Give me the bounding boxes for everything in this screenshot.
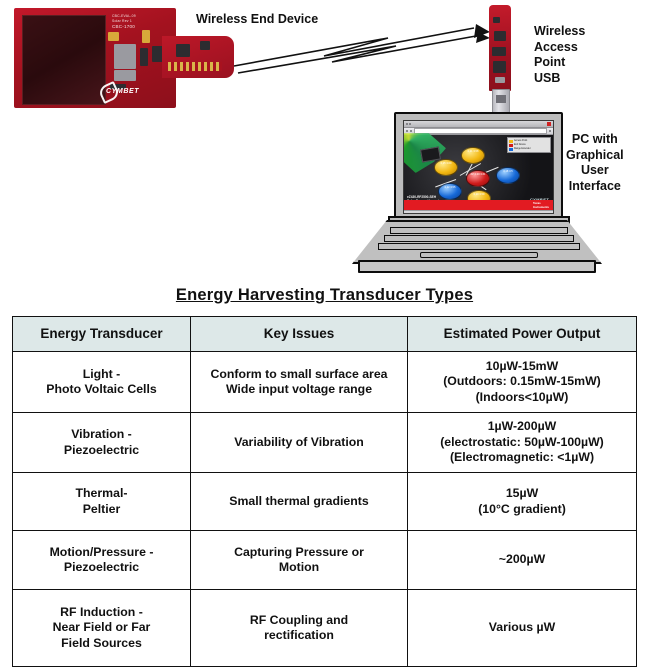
column-header-energy-transducer: Energy Transducer [13, 317, 191, 352]
cell-transducer: RF Induction - Near Field or Far Field S… [13, 590, 191, 667]
laptop-screen: 0.15 3.60 0.21 3.58 AP 0.00 3.61 0.18 3.… [403, 120, 554, 214]
pcb-body: CBC-EVAL-09 Solar Rev 1 CBC-1700 CYMBET [14, 8, 176, 108]
usb-ic-4 [493, 61, 506, 73]
gui-network-canvas: 0.15 3.60 0.21 3.58 AP 0.00 3.61 0.18 3.… [404, 135, 553, 214]
legend-label-end-device: End Device [514, 144, 526, 147]
laptop-front-edge [358, 260, 596, 273]
laptop-lid: 0.15 3.60 0.21 3.58 AP 0.00 3.61 0.18 3.… [394, 112, 563, 222]
column-header-estimated-power-output: Estimated Power Output [408, 317, 637, 352]
system-diagram: CBC-EVAL-09 Solar Rev 1 CBC-1700 CYMBET … [0, 0, 649, 282]
cell-issues: Variability of Vibration [191, 413, 408, 473]
page-title: Energy Harvesting Transducer Types [0, 286, 649, 305]
legend-swatch-access-point [509, 140, 513, 143]
usb-ic-1 [493, 17, 500, 23]
pcb-radio-module [162, 36, 234, 78]
pcb-component-silver-2 [114, 70, 136, 81]
pcb-ic-1 [140, 48, 148, 66]
browser-status-bar [404, 210, 553, 214]
pcb-silkscreen-line-3: CBC-1700 [112, 25, 135, 29]
wireless-link-arrow [228, 16, 490, 88]
keyboard-row [378, 243, 580, 250]
browser-dot-2 [409, 123, 411, 125]
table-header-row: Energy Transducer Key Issues Estimated P… [13, 317, 637, 352]
column-header-key-issues: Key Issues [191, 317, 408, 352]
cell-power: ~200µW [408, 531, 637, 590]
table-row: Thermal- Peltier Small thermal gradients… [13, 473, 637, 531]
back-icon[interactable] [406, 130, 408, 132]
gui-node-yellow-1[interactable]: 0.15 3.60 [434, 159, 458, 176]
legend-label-access-point: Access Point [514, 140, 527, 143]
cell-power: 1µW-200µW (electrostatic: 50µW-100µW) (E… [408, 413, 637, 473]
cymbet-brand-label: CYMBET [106, 88, 139, 95]
browser-close-icon[interactable] [547, 122, 551, 126]
browser-titlebar [404, 121, 553, 128]
cell-issues: Small thermal gradients [191, 473, 408, 531]
table-row: Motion/Pressure - Piezoelectric Capturin… [13, 531, 637, 590]
pcb-component-gold-2 [142, 30, 150, 43]
gui-node-access-point[interactable]: AP 0.00 3.61 [466, 170, 490, 187]
cell-issues: Capturing Pressure or Motion [191, 531, 408, 590]
gui-node-yellow-2[interactable]: 0.21 3.58 [461, 147, 485, 164]
cell-issues: RF Coupling and rectification [191, 590, 408, 667]
keyboard-row [384, 235, 574, 242]
usb-pcb-body [489, 5, 511, 91]
table-row: RF Induction - Near Field or Far Field S… [13, 590, 637, 667]
pcb-component-gold [108, 32, 119, 41]
cell-transducer: Motion/Pressure - Piezoelectric [13, 531, 191, 590]
pcb-silkscreen-line-2: Solar Rev 1 [112, 19, 132, 23]
energy-harvesting-transducer-table: Energy Transducer Key Issues Estimated P… [12, 316, 637, 667]
keyboard-row [390, 227, 568, 234]
gui-legend: Access Point End Device Range Extender [507, 137, 551, 153]
label-wireless-access-point: Wireless Access Point USB [534, 24, 585, 86]
laptop-image: 0.15 3.60 0.21 3.58 AP 0.00 3.61 0.18 3.… [352, 112, 602, 277]
solar-panel [22, 15, 106, 105]
pcb-silkscreen-line-1: CBC-EVAL-09 [112, 14, 136, 18]
cell-transducer: Thermal- Peltier [13, 473, 191, 531]
address-bar[interactable] [414, 128, 547, 134]
table-row: Light - Photo Voltaic Cells Conform to s… [13, 352, 637, 413]
cell-transducer: Light - Photo Voltaic Cells [13, 352, 191, 413]
browser-dot [406, 123, 408, 125]
radio-ic [176, 44, 190, 57]
cell-power: Various µW [408, 590, 637, 667]
gui-node-blue-1[interactable]: 0.18 3.5 [496, 167, 520, 184]
radio-ic-2 [200, 41, 210, 50]
pin-header [168, 62, 222, 71]
cell-power: 10µW-15mW (Outdoors: 0.15mW-15mW) (Indoo… [408, 352, 637, 413]
laptop-base [352, 220, 602, 264]
table-row: Vibration - Piezoelectric Variability of… [13, 413, 637, 473]
cell-power: 15µW (10°C gradient) [408, 473, 637, 531]
pcb-component-silver [114, 44, 136, 69]
legend-item: Range Extender [509, 147, 549, 151]
usb-ic-2 [494, 31, 506, 41]
legend-swatch-end-device [509, 144, 513, 147]
legend-swatch-range-extender [509, 148, 513, 151]
legend-label-range-extender: Range Extender [514, 148, 531, 151]
usb-ic-3 [492, 47, 506, 56]
usb-ic-5 [495, 77, 505, 83]
label-pc-gui: PC with Graphical User Interface [566, 132, 624, 194]
cell-transducer: Vibration - Piezoelectric [13, 413, 191, 473]
spacebar [420, 252, 538, 258]
cell-issues: Conform to small surface area Wide input… [191, 352, 408, 413]
wireless-access-point-usb-image [481, 5, 519, 117]
ti-logo-text: Texas Instruments [533, 202, 549, 208]
forward-icon[interactable] [410, 130, 412, 132]
reload-icon[interactable] [549, 130, 551, 132]
